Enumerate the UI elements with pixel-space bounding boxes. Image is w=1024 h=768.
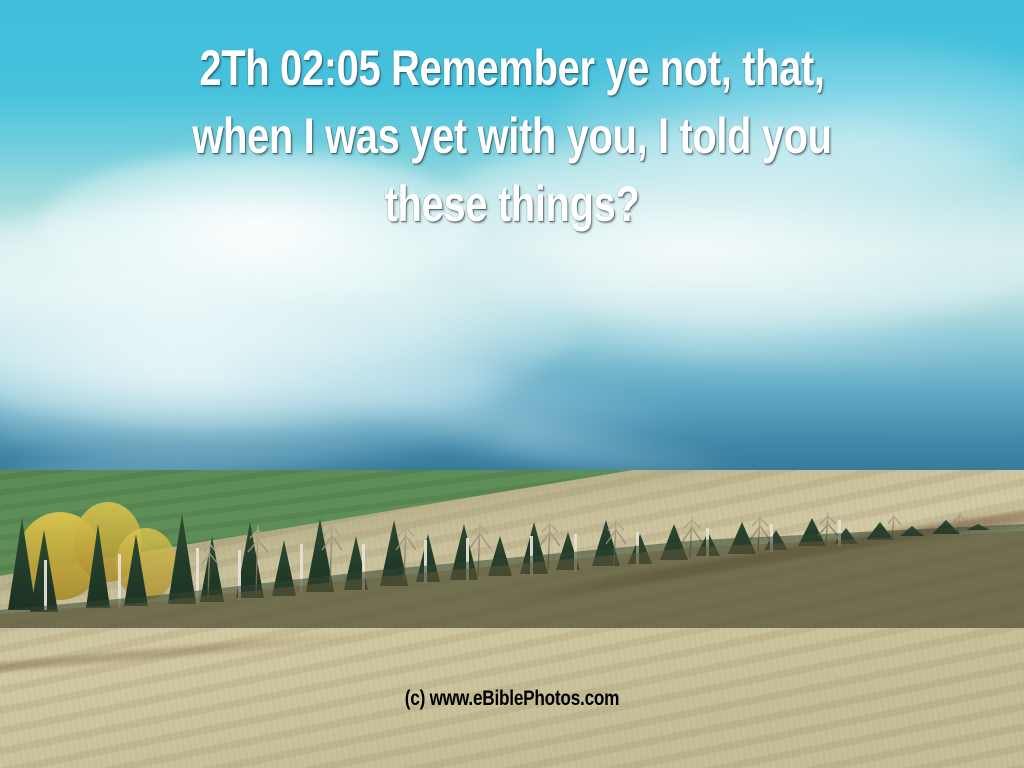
verse-photo-canvas: 2Th 02:05 Remember ye not, that, when I … bbox=[0, 0, 1024, 768]
sky-background bbox=[0, 0, 1024, 540]
treeline bbox=[0, 478, 1024, 628]
copyright-credit: (c) www.eBiblePhotos.com bbox=[92, 688, 932, 710]
